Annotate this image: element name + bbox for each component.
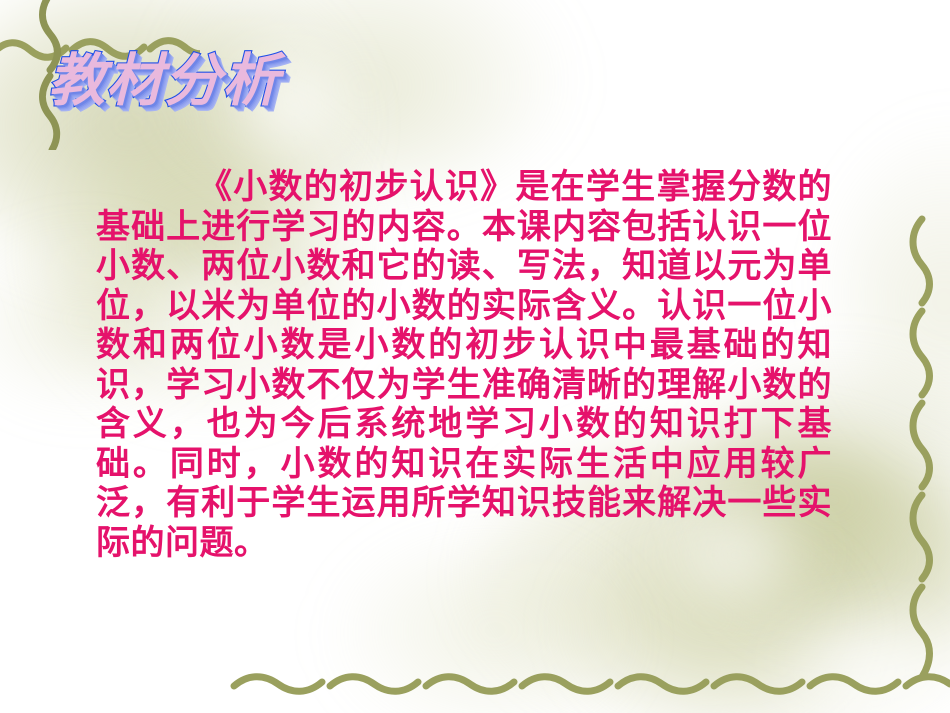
vine-border-bottom-icon	[230, 664, 950, 698]
watermark-blob	[330, 540, 630, 713]
watermark-blob	[560, 540, 860, 713]
watermark-highlight	[760, 600, 950, 713]
title-block: 教材分析	[48, 52, 468, 142]
vine-border-right-icon	[902, 215, 936, 685]
page-title: 教材分析	[48, 52, 468, 109]
presentation-slide: 教材分析 《小数的初步认识》是在学生掌握分数的基础上进行学习的内容。本课内容包括…	[0, 0, 950, 713]
watermark-blob	[840, 120, 950, 450]
body-paragraph: 《小数的初步认识》是在学生掌握分数的基础上进行学习的内容。本课内容包括认识一位小…	[96, 168, 832, 563]
